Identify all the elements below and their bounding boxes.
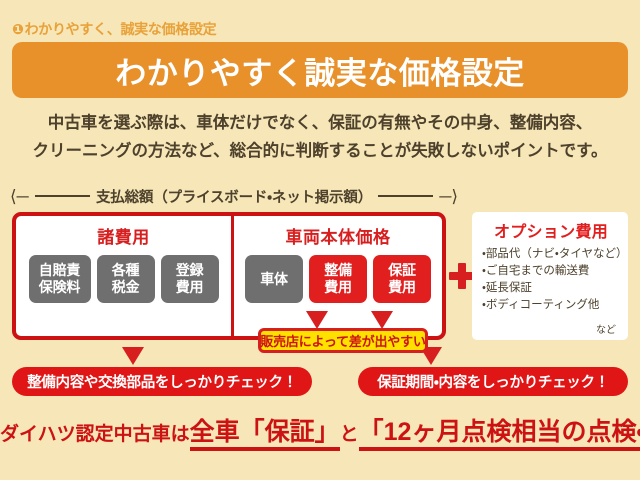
footer-part-2: 全車「保証」 <box>190 418 340 451</box>
footer-statement: ダイハツ認定中古車は全車「保証」と「12ヶ月点検相当の点検・整備」付き <box>0 412 640 448</box>
total-payment-label: 支払総額（プライスボード・ネット掲示額） <box>96 186 372 207</box>
chip-line-1: 整備 <box>324 262 352 279</box>
footer-part-3: と <box>340 424 359 445</box>
chip-line-1: 車体 <box>260 271 288 288</box>
arrow-rule-left <box>35 195 90 197</box>
chip-line-1: 保証 <box>388 262 416 279</box>
misc-fees-title: 諸費用 <box>97 223 150 248</box>
arrow-left-head: ⟨─ <box>10 188 29 205</box>
list-item: ・ご自宅までの輸送費 <box>482 263 620 280</box>
dealer-variance-callout: 販売店によって差が出やすい <box>258 328 428 353</box>
chip-maintenance-fee: 整備 費用 <box>309 255 367 303</box>
option-cost-note: など <box>482 321 620 336</box>
chip-vehicle-body: 車体 <box>245 255 303 303</box>
chip-line-2: 保険料 <box>39 279 80 296</box>
chip-line-2: 費用 <box>388 279 416 296</box>
chip-warranty-fee: 保証 費用 <box>373 255 431 303</box>
section-eyebrow: ❶わかりやすく、誠実な価格設定 <box>12 19 216 39</box>
page-title: わかりやすく誠実な価格設定 <box>115 48 525 93</box>
banner-right-text: 保証期間・内容をしっかりチェック！ <box>377 371 609 392</box>
banner-check-maintenance: 整備内容や交換部品をしっかりチェック！ <box>12 367 312 396</box>
chip-line-1: 自賠責 <box>39 262 80 279</box>
dealer-variance-text: 販売店によって差が出やすい <box>260 331 425 350</box>
chip-line-2: 費用 <box>324 279 352 296</box>
lead-line-1: 中古車を選ぶ際は、車体だけでなく、保証の有無やその中身、整備内容、 <box>0 109 640 137</box>
total-payment-arrow: ⟨─ 支払総額（プライスボード・ネット掲示額） ─⟩ <box>10 185 458 207</box>
vehicle-price-column: 車両本体価格 車体 整備 費用 保証 費用 <box>234 216 442 336</box>
list-item: ・ボディコーティング他 <box>482 297 620 314</box>
connector-warranty-to-callout <box>371 311 393 329</box>
chip-compulsory-insurance: 自賠責 保険料 <box>29 255 91 303</box>
section-eyebrow-label: わかりやすく、誠実な価格設定 <box>25 21 217 37</box>
list-item: ・部品代（ナビ・タイヤなど） <box>482 246 620 263</box>
connector-to-left-banner <box>122 347 144 365</box>
chip-line-2: 税金 <box>112 279 140 296</box>
option-cost-box: オプション費用 ・部品代（ナビ・タイヤなど） ・ご自宅までの輸送費 ・延長保証 … <box>472 212 628 340</box>
arrow-right-head: ─⟩ <box>439 188 458 205</box>
banner-check-warranty: 保証期間・内容をしっかりチェック！ <box>358 367 628 396</box>
misc-fees-column: 諸費用 自賠責 保険料 各種 税金 登録 費用 <box>16 216 234 336</box>
lead-paragraph: 中古車を選ぶ際は、車体だけでなく、保証の有無やその中身、整備内容、 クリーニング… <box>0 109 640 165</box>
footer-part-4: 「12ヶ月点検相当の点検・整備」 <box>359 418 640 451</box>
banner-left-text: 整備内容や交換部品をしっかりチェック！ <box>27 371 297 392</box>
chip-line-2: 費用 <box>176 279 204 296</box>
arrow-rule-right <box>378 195 433 197</box>
lead-line-2: クリーニングの方法など、総合的に判断することが失敗しないポイントです。 <box>0 137 640 165</box>
chip-line-1: 登録 <box>176 262 204 279</box>
list-item: ・延長保証 <box>482 280 620 297</box>
section-number: ❶ <box>12 21 24 38</box>
option-cost-list: ・部品代（ナビ・タイヤなど） ・ご自宅までの輸送費 ・延長保証 ・ボディコーティ… <box>482 246 620 321</box>
chip-taxes: 各種 税金 <box>97 255 155 303</box>
vehicle-price-title: 車両本体価格 <box>286 223 391 248</box>
chip-line-1: 各種 <box>112 262 140 279</box>
page-title-bar: わかりやすく誠実な価格設定 <box>12 42 628 98</box>
chip-registration-fee: 登録 費用 <box>161 255 219 303</box>
misc-fees-chip-row: 自賠責 保険料 各種 税金 登録 費用 <box>29 255 219 303</box>
vehicle-price-chip-row: 車体 整備 費用 保証 費用 <box>245 255 431 303</box>
connector-maintenance-to-callout <box>306 311 328 329</box>
footer-part-1: ダイハツ認定中古車は <box>0 424 190 445</box>
option-cost-title: オプション費用 <box>482 218 620 242</box>
